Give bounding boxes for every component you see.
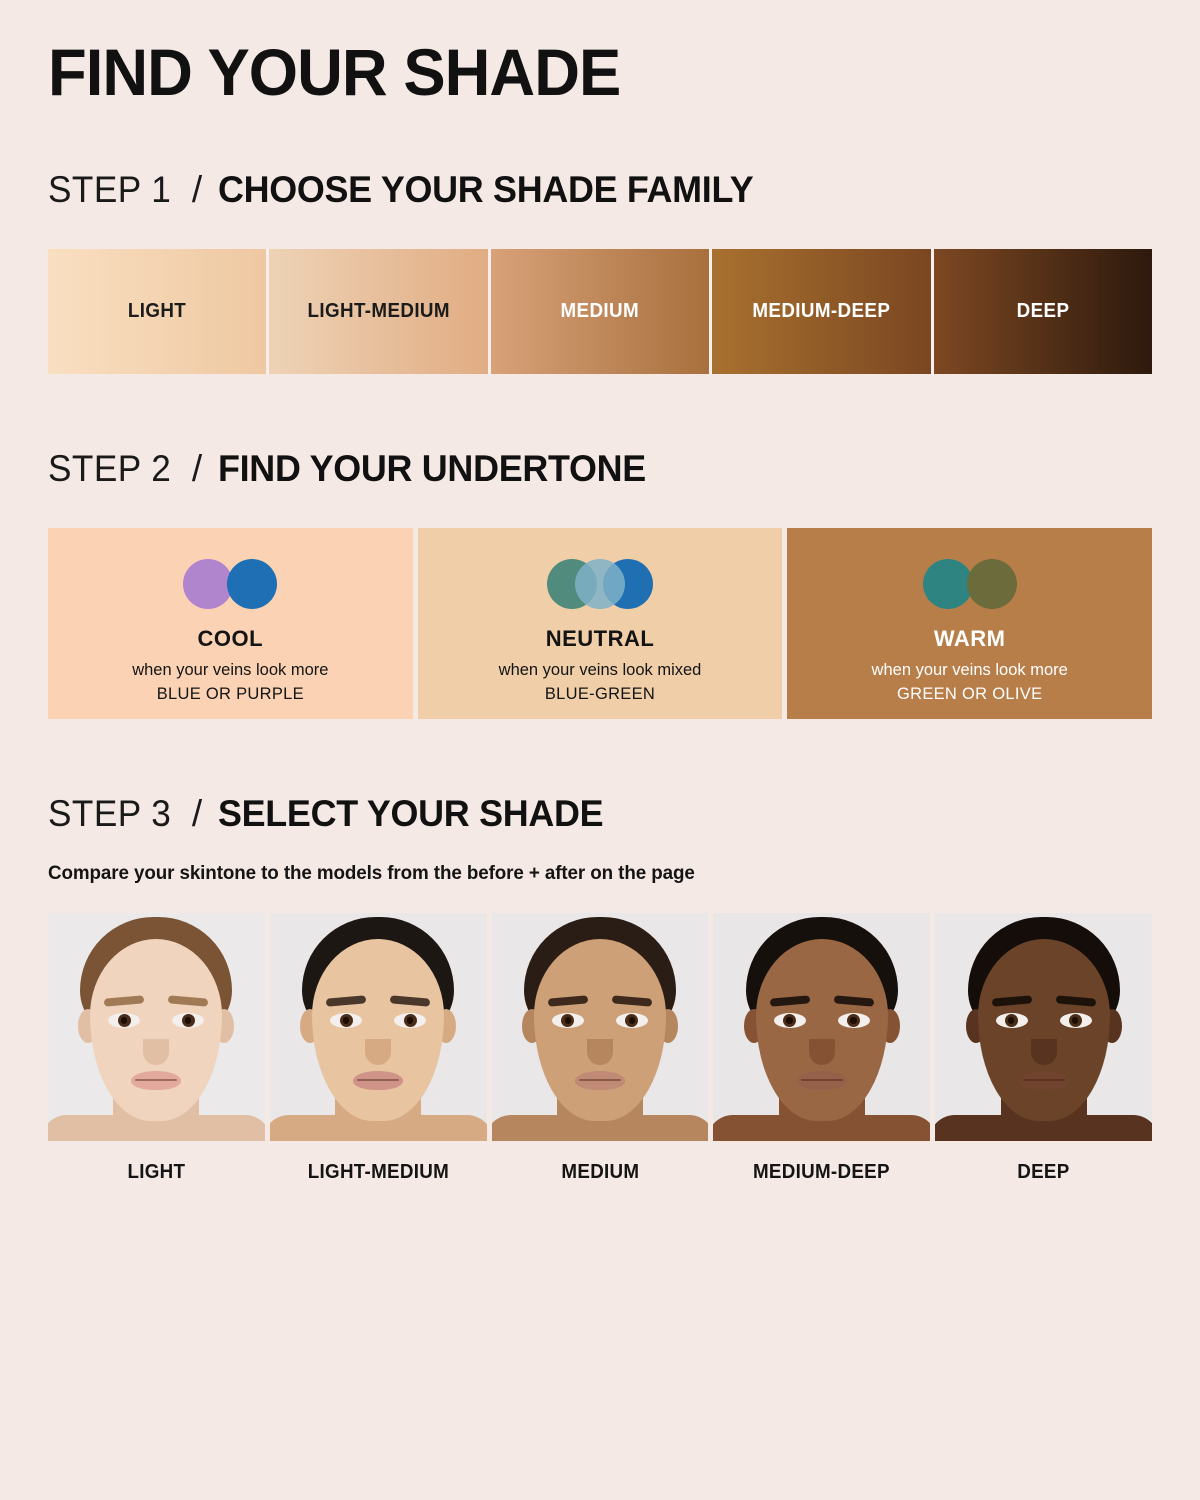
select-shade-subtitle: Compare your skintone to the models from…: [48, 863, 1141, 885]
shade-family-swatch-label: MEDIUM: [561, 300, 640, 323]
step-3-header: STEP 3 / SELECT YOUR SHADE: [48, 793, 1152, 835]
shade-family-swatch[interactable]: MEDIUM-DEEP: [709, 249, 930, 374]
undertone-name: WARM: [934, 626, 1006, 652]
model-iris-left: [118, 1014, 131, 1027]
undertone-description: when your veins look moreGREEN OR OLIVE: [872, 659, 1068, 706]
step-2-title: FIND YOUR UNDERTONE: [218, 448, 646, 490]
model-eye-left: [996, 1013, 1028, 1028]
model-shade-label: MEDIUM-DEEP: [720, 1161, 924, 1184]
model-face: [978, 939, 1110, 1121]
model-portrait-photo: [270, 913, 487, 1141]
undertone-description-line1: when your veins look mixed: [499, 661, 702, 679]
undertone-description-line1: when your veins look more: [872, 661, 1068, 679]
model-face: [756, 939, 888, 1121]
shade-family-swatch-label: MEDIUM-DEEP: [752, 300, 890, 323]
step-1-number: STEP 1: [48, 169, 171, 211]
model-iris-right: [404, 1014, 417, 1027]
model-cell[interactable]: LIGHT-MEDIUM: [270, 913, 487, 1184]
undertone-description: when your veins look moreBLUE OR PURPLE: [132, 659, 328, 706]
model-portrait-photo: [935, 913, 1152, 1141]
undertone-dot-icon: [227, 559, 277, 609]
undertone-vein-dots: [183, 558, 277, 610]
model-iris-left: [561, 1014, 574, 1027]
undertone-vein-dots: [923, 558, 1017, 610]
page-title: FIND YOUR SHADE: [48, 0, 1108, 107]
step-3-title: SELECT YOUR SHADE: [218, 793, 603, 835]
undertone-description-line2: BLUE-GREEN: [499, 683, 702, 706]
shade-family-swatch-label: LIGHT: [128, 300, 186, 323]
shade-family-swatch[interactable]: MEDIUM: [488, 249, 709, 374]
step-2-header: STEP 2 / FIND YOUR UNDERTONE: [48, 448, 1152, 490]
undertone-dot-icon: [183, 559, 233, 609]
undertone-description-line2: BLUE OR PURPLE: [132, 683, 328, 706]
undertone-dot-icon: [967, 559, 1017, 609]
model-face: [312, 939, 444, 1121]
model-lips: [575, 1071, 625, 1090]
step-2-separator: /: [178, 448, 218, 490]
model-iris-left: [1005, 1014, 1018, 1027]
model-iris-right: [1069, 1014, 1082, 1027]
step-2-number: STEP 2: [48, 448, 171, 490]
model-face: [90, 939, 222, 1121]
undertone-card[interactable]: WARMwhen your veins look moreGREEN OR OL…: [787, 528, 1152, 719]
step-3-number: STEP 3: [48, 793, 171, 835]
model-iris-right: [625, 1014, 638, 1027]
model-eye-right: [1060, 1013, 1092, 1028]
model-lips: [131, 1071, 181, 1090]
model-lips: [797, 1071, 847, 1090]
undertone-vein-dots: [547, 558, 653, 610]
undertone-dot-icon: [923, 559, 973, 609]
model-cell[interactable]: LIGHT: [48, 913, 265, 1184]
undertone-panel-row: COOLwhen your veins look moreBLUE OR PUR…: [48, 528, 1152, 719]
model-nose: [1031, 1039, 1057, 1065]
undertone-card[interactable]: COOLwhen your veins look moreBLUE OR PUR…: [48, 528, 413, 719]
model-portrait-photo: [48, 913, 265, 1141]
model-iris-left: [783, 1014, 796, 1027]
model-photo-row: LIGHTLIGHT-MEDIUMMEDIUMMEDIUM-DEEPDEEP: [48, 913, 1152, 1184]
model-shade-label: LIGHT-MEDIUM: [276, 1161, 480, 1184]
undertone-card[interactable]: NEUTRALwhen your veins look mixedBLUE-GR…: [418, 528, 783, 719]
step-1-separator: /: [178, 169, 218, 211]
undertone-name: NEUTRAL: [546, 626, 655, 652]
step-1-title: CHOOSE YOUR SHADE FAMILY: [218, 169, 753, 211]
shade-family-swatch[interactable]: LIGHT-MEDIUM: [266, 249, 487, 374]
model-cell[interactable]: MEDIUM: [492, 913, 709, 1184]
shade-family-swatch[interactable]: LIGHT: [48, 249, 266, 374]
step-3-separator: /: [178, 793, 218, 835]
model-cell[interactable]: MEDIUM-DEEP: [713, 913, 930, 1184]
shade-finder-page: FIND YOUR SHADE STEP 1 / CHOOSE YOUR SHA…: [0, 0, 1200, 1184]
undertone-description-line1: when your veins look more: [132, 661, 328, 679]
model-iris-right: [847, 1014, 860, 1027]
model-face: [534, 939, 666, 1121]
model-iris-left: [340, 1014, 353, 1027]
model-cell[interactable]: DEEP: [935, 913, 1152, 1184]
model-iris-right: [182, 1014, 195, 1027]
undertone-description: when your veins look mixedBLUE-GREEN: [499, 659, 702, 706]
model-lips: [353, 1071, 403, 1090]
model-shade-label: DEEP: [942, 1161, 1146, 1184]
step-1-header: STEP 1 / CHOOSE YOUR SHADE FAMILY: [48, 169, 1152, 211]
shade-family-bar: LIGHTLIGHT-MEDIUMMEDIUMMEDIUM-DEEPDEEP: [48, 249, 1152, 374]
model-shade-label: MEDIUM: [498, 1161, 702, 1184]
model-portrait-photo: [492, 913, 709, 1141]
shade-family-swatch-label: LIGHT-MEDIUM: [307, 300, 449, 323]
undertone-dot-icon: [575, 559, 625, 609]
model-shade-label: LIGHT: [55, 1161, 259, 1184]
model-lips: [1019, 1071, 1069, 1090]
undertone-description-line2: GREEN OR OLIVE: [872, 683, 1068, 706]
undertone-name: COOL: [198, 626, 264, 652]
shade-family-swatch-label: DEEP: [1016, 300, 1069, 323]
model-nose: [809, 1039, 835, 1065]
model-portrait-photo: [713, 913, 930, 1141]
shade-family-swatch[interactable]: DEEP: [931, 249, 1152, 374]
